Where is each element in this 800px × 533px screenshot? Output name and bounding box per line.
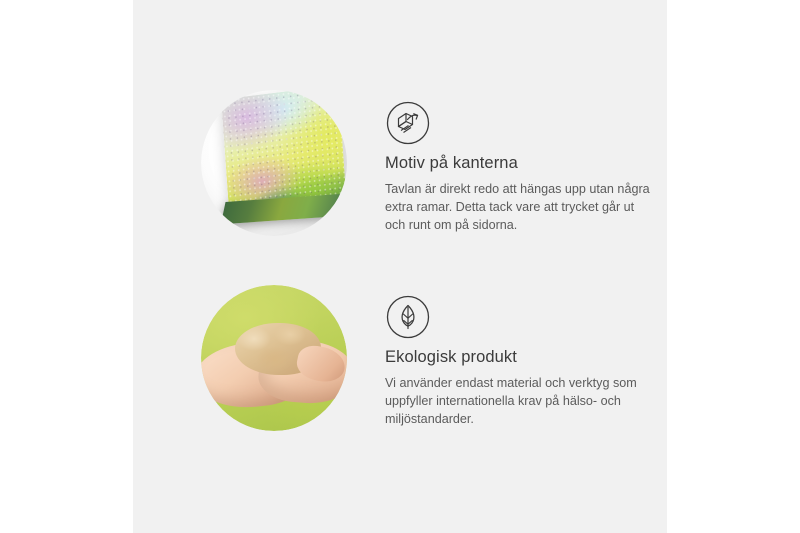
content-panel: Motiv på kanterna Tavlan är direkt redo … xyxy=(133,0,667,533)
wood-chips-in-hands-photo xyxy=(201,285,347,431)
feature-title: Motiv på kanterna xyxy=(385,154,657,173)
feature-text: Ekologisk produkt Vi använder endast mat… xyxy=(385,348,657,429)
leaf-icon xyxy=(385,294,431,340)
feature-title: Ekologisk produkt xyxy=(385,348,657,367)
feature-block: Ekologisk produkt Vi använder endast mat… xyxy=(133,272,667,442)
canvas-corner-photo xyxy=(201,90,347,236)
photo-inner xyxy=(201,285,347,431)
photo-inner xyxy=(201,90,347,236)
canvas-wrapped-edge-icon xyxy=(385,100,431,146)
feature-description: Tavlan är direkt redo att hängas upp uta… xyxy=(385,180,657,235)
feature-description: Vi använder endast material och verktyg … xyxy=(385,374,657,429)
feature-block: Motiv på kanterna Tavlan är direkt redo … xyxy=(133,78,667,248)
product-feature-infographic: Motiv på kanterna Tavlan är direkt redo … xyxy=(0,0,800,533)
feature-text: Motiv på kanterna Tavlan är direkt redo … xyxy=(385,154,657,235)
